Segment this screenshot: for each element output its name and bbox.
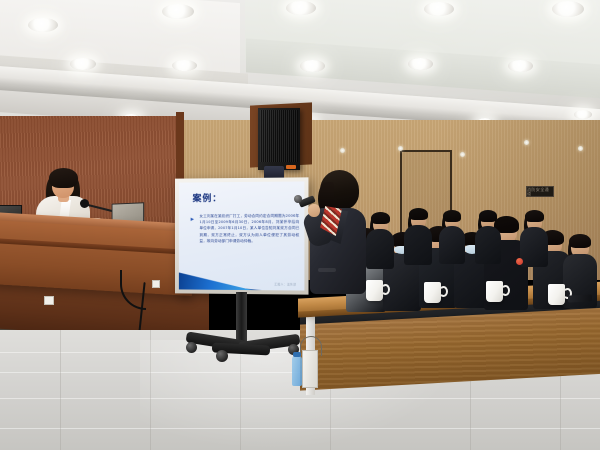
slide-title: 案例： xyxy=(193,191,223,204)
downlight-2 xyxy=(162,4,194,19)
slide-body-text: 女工刘某在某纺织厂打工，劳动合同约定合同期限为2006年1月10日至2009年6… xyxy=(199,213,299,244)
mug-handle-1 xyxy=(381,284,390,295)
microphone-head-icon xyxy=(294,195,302,203)
downlight-14 xyxy=(574,110,592,119)
slide-bullet-icon: ▸ xyxy=(191,216,198,223)
mug-handle-2 xyxy=(439,286,448,297)
podium-microphone-icon xyxy=(80,199,89,208)
downlight-4 xyxy=(424,2,454,16)
tv-caster-left xyxy=(186,342,197,353)
wall-outlet-secondary xyxy=(152,280,160,288)
audience-body-9 xyxy=(404,225,432,265)
tv-screen[interactable]: 案例： ▸ 女工刘某在某纺织厂打工，劳动合同约定合同期限为2006年1月10日至… xyxy=(179,181,305,290)
downlight-7 xyxy=(172,60,197,71)
wall-fixture-4 xyxy=(578,146,583,151)
speaker-brand-logo xyxy=(286,165,296,169)
downlight-1 xyxy=(28,18,58,32)
tv-stand-column xyxy=(236,292,247,346)
wall-sign: 消防安全通道 xyxy=(526,186,554,197)
audience-body-8 xyxy=(366,229,394,269)
wall-fixture-3 xyxy=(524,140,529,145)
phone-on-desk xyxy=(568,294,592,302)
audience-body-10 xyxy=(439,226,465,264)
wall-outlet xyxy=(44,296,54,305)
chairperson-hair xyxy=(49,168,78,188)
audience-lapel-badge xyxy=(516,258,523,265)
audience-hair-9 xyxy=(409,208,428,220)
wall-fixture-2 xyxy=(460,152,465,157)
wall-fixture-5 xyxy=(340,148,345,153)
conference-room-photo: 消防安全通道 案例： ▸ 女 xyxy=(0,0,600,450)
downlight-10 xyxy=(508,60,533,72)
wall-speaker xyxy=(258,108,300,170)
downlight-9 xyxy=(408,58,433,70)
audience-hair-10 xyxy=(443,210,461,222)
equipment-box xyxy=(302,350,318,388)
wall-fixture-1 xyxy=(398,146,403,151)
audience-body-12 xyxy=(520,227,548,267)
slide-footer-text: 汇报人：法务部 xyxy=(274,282,296,286)
tv-display[interactable]: 案例： ▸ 女工刘某在某纺织厂打工，劳动合同约定合同期限为2006年1月10日至… xyxy=(175,177,309,294)
downlight-6 xyxy=(70,58,96,70)
audience-hair-7 xyxy=(569,234,591,248)
audience-hair-12 xyxy=(525,210,544,222)
floor-tile-col-1 xyxy=(60,330,61,450)
tv-caster-front xyxy=(216,350,228,362)
slide-accent-wedge xyxy=(179,264,252,290)
downlight-5 xyxy=(552,1,584,17)
presenter-hand xyxy=(308,204,320,217)
water-bottle-cap xyxy=(293,352,301,357)
wall-sign-text: 消防安全通道 xyxy=(527,188,553,196)
downlight-8 xyxy=(300,60,325,72)
audience-hair-8 xyxy=(371,212,390,224)
downlight-3 xyxy=(286,1,316,15)
speaker-grille-icon xyxy=(260,110,298,162)
audience-body-11 xyxy=(475,226,501,264)
water-bottle xyxy=(292,356,302,386)
mug-handle-3 xyxy=(501,285,510,296)
audience-hair-11 xyxy=(479,210,497,222)
presenter-pocket xyxy=(318,268,336,272)
